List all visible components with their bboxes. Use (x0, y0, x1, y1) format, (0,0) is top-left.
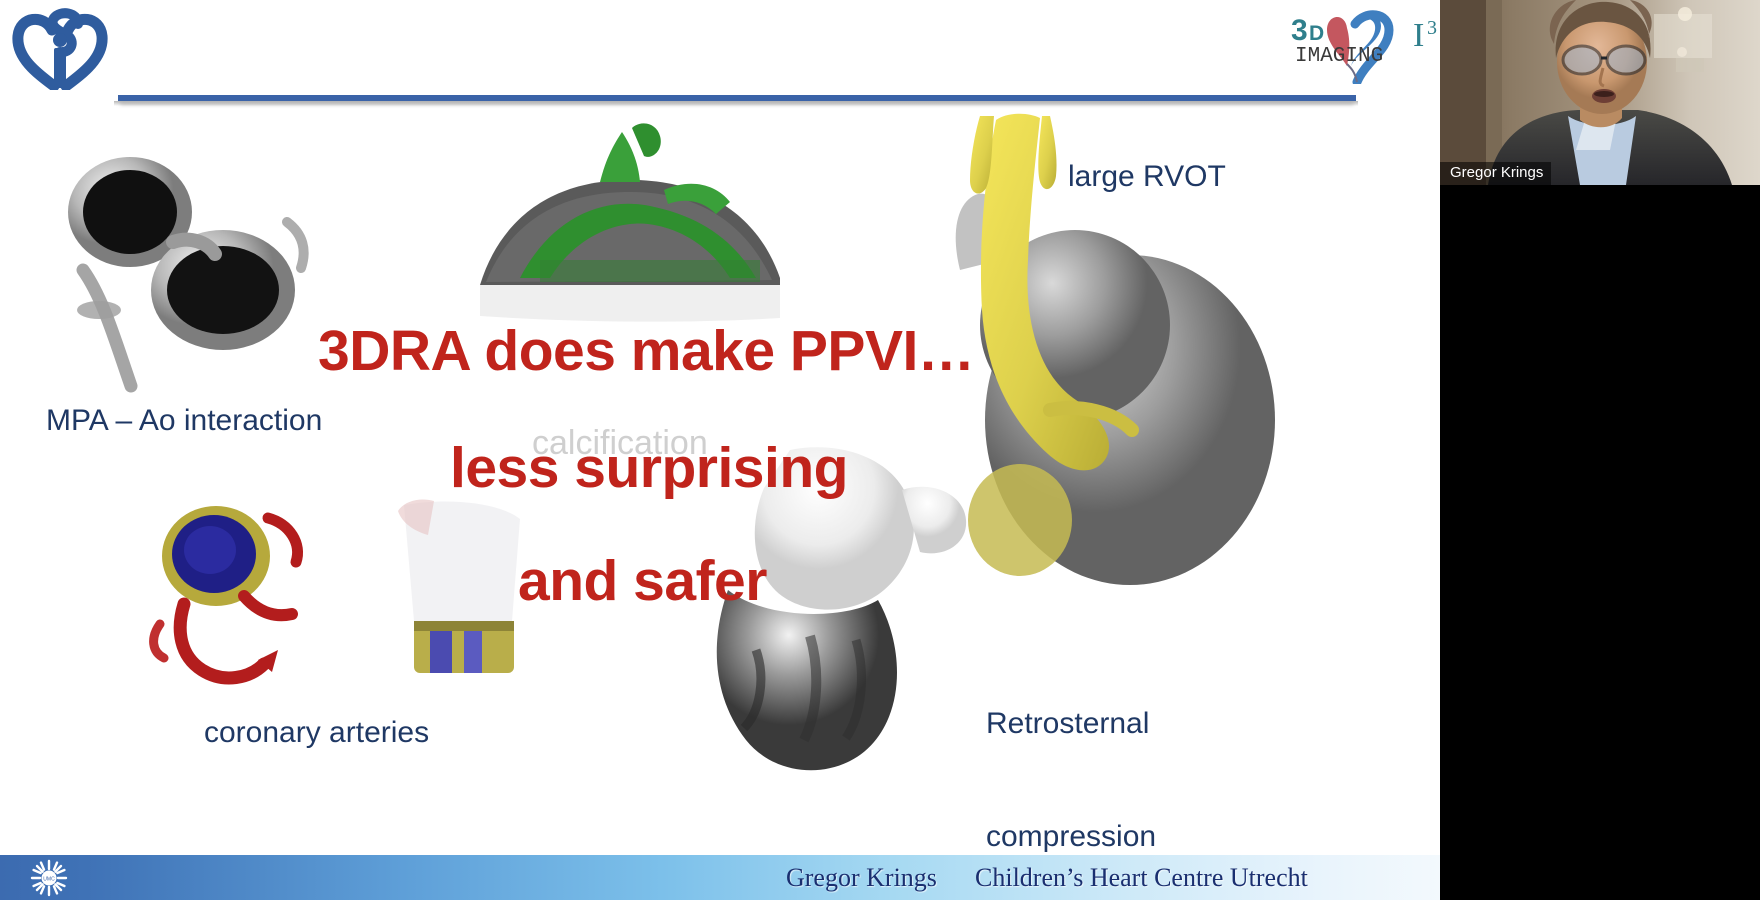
render-coronary-arteries (140, 500, 370, 700)
footer-centre-name: Children’s Heart Centre Utrecht (975, 863, 1308, 893)
screen: 3 D IMAGING I 3 (0, 0, 1760, 900)
label-retrosternal-line1: Retrosternal (986, 705, 1156, 743)
headline-line-3: and safer (518, 548, 767, 614)
render-mpa-ao-interaction (55, 150, 335, 415)
label-retrosternal-line2: compression (986, 818, 1156, 856)
svg-text:3: 3 (1427, 17, 1437, 39)
label-mpa-ao-interaction: MPA – Ao interaction (46, 402, 322, 440)
headline-line-2: less surprising (450, 435, 848, 501)
svg-text:3: 3 (1291, 14, 1308, 47)
label-coronary-arteries: coronary arteries (204, 714, 429, 752)
webcam-participant-name: Gregor Krings (1440, 162, 1551, 185)
webcam-empty-area (1440, 185, 1760, 900)
3d-imaging-i3-logo: 3 D IMAGING I 3 (1285, 4, 1440, 84)
svg-text:UMC: UMC (43, 877, 55, 883)
footer-presenter-name: Gregor Krings (786, 863, 937, 893)
label-large-rvot: large RVOT (1068, 158, 1226, 196)
headline-line-1: 3DRA does make PPVI… (318, 318, 974, 384)
webcam-column: Gregor Krings (1440, 0, 1760, 900)
header-divider (118, 95, 1356, 101)
childrens-heart-centre-logo (8, 4, 112, 90)
webcam-video-tile[interactable]: Gregor Krings (1440, 0, 1760, 185)
svg-text:D: D (1309, 22, 1324, 45)
svg-text:IMAGING: IMAGING (1295, 45, 1383, 68)
slide-footer: UMC Gregor Krings Children’s Heart Centr… (0, 855, 1440, 900)
presentation-slide: 3 D IMAGING I 3 (0, 0, 1440, 900)
svg-text:I: I (1413, 17, 1424, 54)
umc-utrecht-sunburst-logo: UMC (30, 859, 68, 897)
